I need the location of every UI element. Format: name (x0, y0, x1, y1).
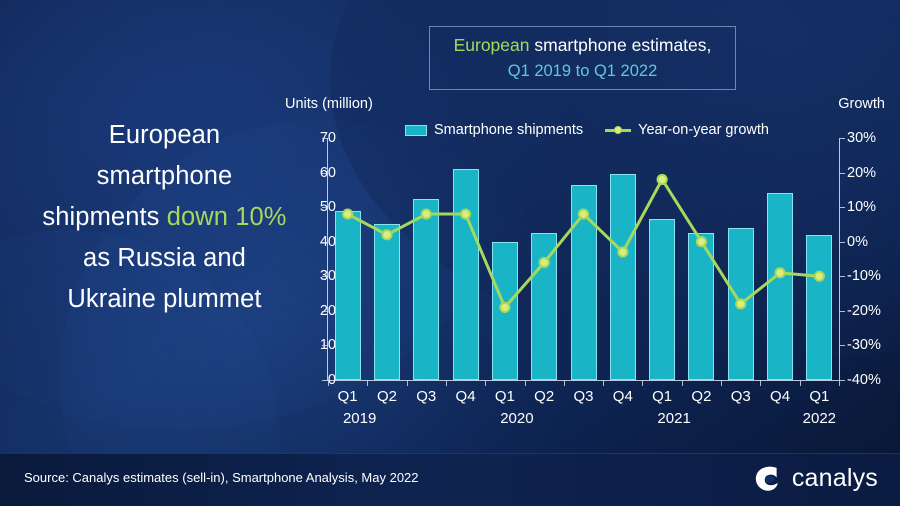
bar-swatch-icon (405, 125, 427, 136)
growth-line-path (348, 179, 820, 307)
x-axis-quarter-label: Q2 (691, 388, 711, 405)
poster-canvas: European smartphone shipments down 10% a… (0, 0, 900, 506)
right-axis-tick-label: -40% (847, 372, 881, 388)
right-axis-tick-mark (839, 345, 845, 346)
headline-text: European smartphone shipments down 10% a… (42, 115, 287, 320)
growth-data-point (736, 299, 745, 308)
growth-data-point (540, 258, 549, 267)
legend-item-growth: Year-on-year growth (605, 122, 769, 138)
legend-item-shipments: Smartphone shipments (405, 122, 583, 138)
right-axis-tick-mark (839, 173, 845, 174)
x-axis-line (327, 380, 840, 381)
x-axis-tick-mark (800, 380, 801, 386)
x-axis-tick-mark (485, 380, 486, 386)
x-axis-year-label: 2021 (657, 410, 690, 427)
chart-title-period: Q1 2019 to Q1 2022 (508, 58, 658, 84)
chart-area: Units (million) Growth Smartphone shipme… (285, 96, 885, 396)
x-axis-quarter-label: Q1 (652, 388, 672, 405)
canalys-logo: canalys (753, 463, 878, 493)
x-axis-tick-mark (367, 380, 368, 386)
canalys-swoosh-icon (753, 463, 783, 493)
x-axis-quarter-label: Q4 (770, 388, 790, 405)
canalys-wordmark: canalys (792, 464, 878, 493)
x-axis-quarter-label: Q3 (573, 388, 593, 405)
footer-bar: Source: Canalys estimates (sell-in), Sma… (0, 453, 900, 506)
growth-data-point (461, 209, 470, 218)
growth-line-series (328, 138, 839, 380)
source-note: Source: Canalys estimates (sell-in), Sma… (24, 470, 419, 485)
chart-title-region: European (454, 35, 530, 55)
x-axis-year-label: 2019 (343, 410, 376, 427)
x-axis-quarter-label: Q4 (613, 388, 633, 405)
growth-data-point (579, 209, 588, 218)
right-axis-tick-label: 20% (847, 165, 876, 181)
right-axis-tick-label: -30% (847, 337, 881, 353)
growth-data-point (422, 209, 431, 218)
right-axis-tick-mark (839, 138, 845, 139)
x-axis-quarter-label: Q1 (495, 388, 515, 405)
x-axis-quarter-label: Q1 (809, 388, 829, 405)
x-axis-tick-mark (721, 380, 722, 386)
legend-label-growth: Year-on-year growth (638, 122, 769, 138)
right-axis-tick-mark (839, 207, 845, 208)
chart-legend: Smartphone shipments Year-on-year growth (405, 122, 769, 138)
x-axis-tick-mark (446, 380, 447, 386)
x-axis-tick-mark (603, 380, 604, 386)
line-marker-icon (605, 125, 631, 135)
x-axis-year-label: 2020 (500, 410, 533, 427)
x-axis-tick-mark (407, 380, 408, 386)
right-axis-title: Growth (838, 96, 885, 112)
growth-data-point (815, 272, 824, 281)
right-axis-tick-mark (839, 242, 845, 243)
growth-data-point (618, 247, 627, 256)
headline-highlight: down 10% (167, 203, 287, 231)
x-axis-tick-mark (328, 380, 329, 386)
right-axis-tick-label: -20% (847, 303, 881, 319)
right-axis-tick-mark (839, 276, 845, 277)
x-axis-tick-mark (525, 380, 526, 386)
right-axis-tick-label: 0% (847, 234, 868, 250)
growth-data-point (658, 175, 667, 184)
x-axis-quarter-label: Q3 (416, 388, 436, 405)
x-axis-quarter-label: Q4 (456, 388, 476, 405)
x-axis-year-label: 2022 (803, 410, 836, 427)
x-axis-tick-mark (760, 380, 761, 386)
right-axis-tick-label: -10% (847, 268, 881, 284)
x-axis-tick-mark (642, 380, 643, 386)
growth-data-point (500, 303, 509, 312)
growth-data-point (697, 237, 706, 246)
x-axis-quarter-label: Q3 (731, 388, 751, 405)
growth-data-point (382, 230, 391, 239)
headline-part-2: as Russia and Ukraine plummet (67, 244, 261, 313)
x-axis-tick-mark (839, 380, 840, 386)
growth-data-point (775, 268, 784, 277)
right-axis-tick-label: 10% (847, 199, 876, 215)
x-axis-tick-mark (564, 380, 565, 386)
right-axis-line (839, 138, 840, 380)
chart-title-subject: smartphone estimates, (530, 35, 712, 55)
x-axis-quarter-label: Q2 (534, 388, 554, 405)
x-axis-quarter-label: Q1 (338, 388, 358, 405)
chart-title-box: European smartphone estimates, Q1 2019 t… (429, 26, 736, 90)
chart-title-line-1: European smartphone estimates, (454, 32, 712, 58)
legend-label-shipments: Smartphone shipments (434, 122, 583, 138)
left-axis-title: Units (million) (285, 96, 373, 112)
right-axis-tick-mark (839, 311, 845, 312)
x-axis-quarter-label: Q2 (377, 388, 397, 405)
right-axis-tick-label: 30% (847, 130, 876, 146)
plot-region: 706050403020100 30%20%10%0%-10%-20%-30%-… (328, 138, 839, 380)
x-axis-tick-mark (682, 380, 683, 386)
growth-data-point (343, 209, 352, 218)
